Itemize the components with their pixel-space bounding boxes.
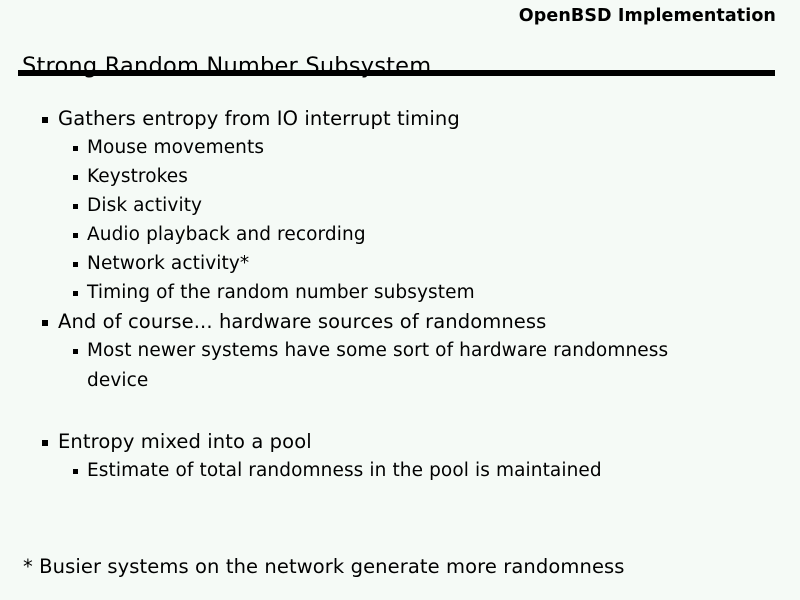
square-bullet-icon [73, 349, 78, 354]
bullet-level2: Keystrokes [0, 162, 800, 191]
bullet-text: Timing of the random number subsystem [87, 278, 707, 307]
square-bullet-icon [73, 469, 78, 474]
bullet-level1: Gathers entropy from IO interrupt timing [0, 104, 800, 133]
bullet-level2: Mouse movements [0, 133, 800, 162]
square-bullet-icon [42, 320, 48, 326]
slide-header-label: OpenBSD Implementation [519, 7, 776, 26]
bullet-text: And of course... hardware sources of ran… [58, 307, 800, 336]
square-bullet-icon [73, 291, 78, 296]
bullet-text: Audio playback and recording [87, 220, 707, 249]
square-bullet-icon [73, 233, 78, 238]
slide: OpenBSD Implementation Strong Random Num… [0, 0, 800, 600]
bullet-level2: Audio playback and recording [0, 220, 800, 249]
bullet-text: Estimate of total randomness in the pool… [87, 456, 707, 485]
bullet-spacer [0, 396, 800, 427]
square-bullet-icon [73, 146, 78, 151]
bullet-text: Mouse movements [87, 133, 707, 162]
slide-body: Gathers entropy from IO interrupt timing… [0, 104, 800, 485]
bullet-level2: Estimate of total randomness in the pool… [0, 456, 800, 485]
square-bullet-icon [73, 262, 78, 267]
footnote-text: * Busier systems on the network generate… [23, 554, 625, 580]
bullet-text: Network activity* [87, 249, 707, 278]
bullet-level2: Disk activity [0, 191, 800, 220]
bullet-level1: And of course... hardware sources of ran… [0, 307, 800, 336]
square-bullet-icon [42, 117, 48, 123]
square-bullet-icon [42, 440, 48, 446]
bullet-level1: Entropy mixed into a pool [0, 427, 800, 456]
bullet-level2: Network activity* [0, 249, 800, 278]
square-bullet-icon [73, 175, 78, 180]
bullet-text: Most newer systems have some sort of har… [87, 336, 705, 396]
bullet-level2: Timing of the random number subsystem [0, 278, 800, 307]
bullet-text: Gathers entropy from IO interrupt timing [58, 104, 800, 133]
bullet-text: Entropy mixed into a pool [58, 427, 800, 456]
square-bullet-icon [73, 204, 78, 209]
bullet-text: Disk activity [87, 191, 707, 220]
bullet-text: Keystrokes [87, 162, 707, 191]
title-divider [18, 70, 775, 76]
bullet-level2: Most newer systems have some sort of har… [0, 336, 800, 396]
